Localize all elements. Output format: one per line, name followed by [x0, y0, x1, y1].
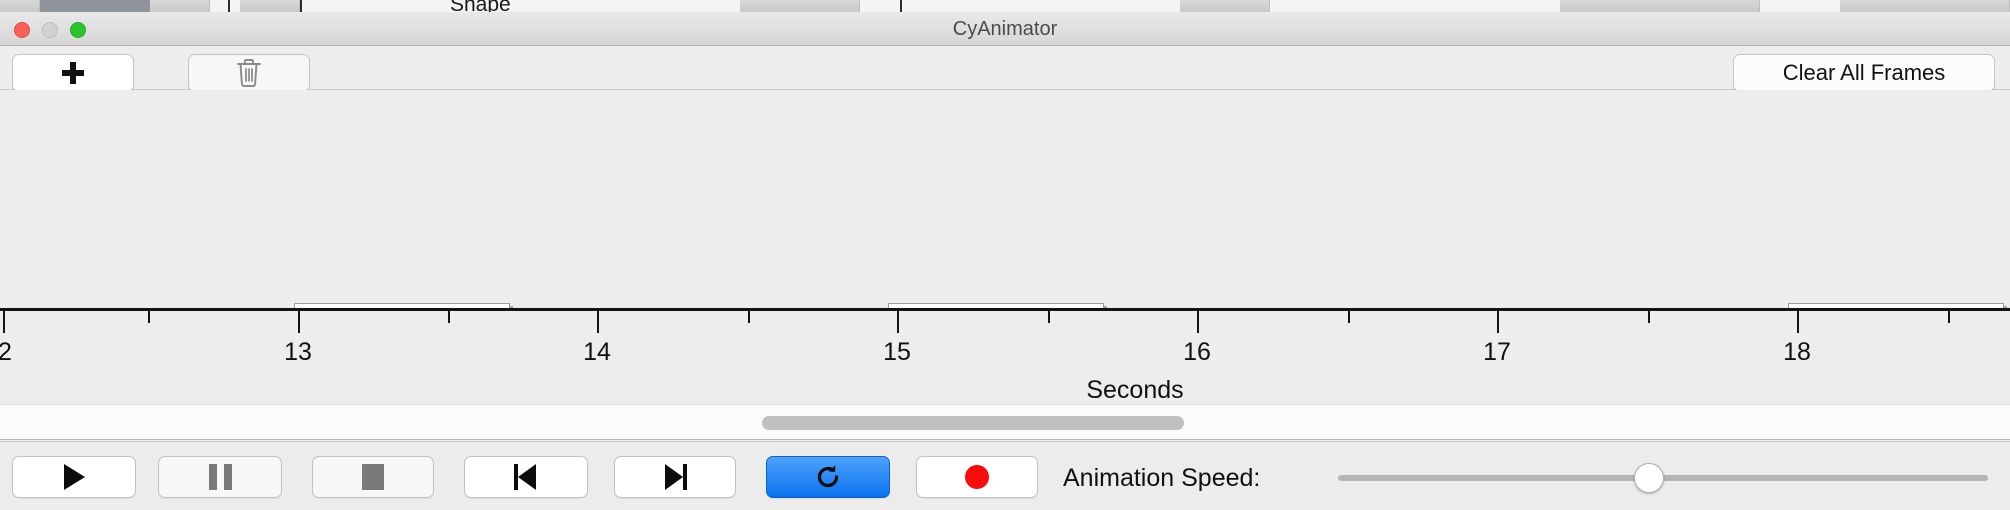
ruler-label: 17: [1483, 338, 1511, 367]
play-button[interactable]: [12, 456, 136, 498]
timeline-track-area[interactable]: MCM1: [0, 90, 2010, 308]
cyanimator-window: Shape CyAnimator Clear All Frames: [0, 0, 2010, 510]
play-icon: [64, 464, 85, 490]
skip-end-icon: [663, 464, 687, 490]
timeline-ruler[interactable]: 2 13 14 15 16 17 18 Seconds: [0, 308, 2010, 404]
stop-button[interactable]: [312, 456, 434, 498]
animation-speed-slider-thumb[interactable]: [1634, 463, 1664, 493]
skip-start-icon: [514, 464, 538, 490]
next-frame-button[interactable]: [614, 456, 736, 498]
loop-icon: [814, 463, 842, 491]
animation-speed-label: Animation Speed:: [1063, 464, 1260, 493]
background-app-strip: Shape: [0, 0, 2010, 12]
window-title: CyAnimator: [0, 12, 2010, 46]
ruler-label: 15: [883, 338, 911, 367]
pause-button[interactable]: [158, 456, 282, 498]
ruler-tick-minor: [1048, 311, 1050, 323]
ruler-tick-minor: [1948, 311, 1950, 323]
ruler-axis-title: Seconds: [0, 376, 2010, 405]
ruler-tick-minor: [448, 311, 450, 323]
clear-all-frames-label: Clear All Frames: [1783, 60, 1946, 86]
stop-icon: [362, 464, 384, 490]
ruler-label: 16: [1183, 338, 1211, 367]
ruler-tick-minor: [1648, 311, 1650, 323]
playback-controls: Animation Speed:: [0, 441, 2010, 510]
ruler-label: 13: [284, 338, 312, 367]
ruler-tick-major: [1497, 311, 1499, 333]
background-partial-label: Shape: [450, 0, 511, 12]
record-icon: [965, 465, 989, 489]
ruler-tick-major: [298, 311, 300, 333]
add-frame-button[interactable]: [12, 54, 134, 92]
window-titlebar: CyAnimator: [0, 12, 2010, 46]
clear-all-frames-button[interactable]: Clear All Frames: [1733, 54, 1995, 92]
delete-frame-button[interactable]: [188, 54, 310, 92]
frame-toolbar: Clear All Frames: [0, 46, 2010, 90]
ruler-tick-major: [1197, 311, 1199, 333]
plus-icon: [62, 62, 84, 84]
loop-button[interactable]: [766, 456, 890, 498]
timeline-scrollbar[interactable]: [0, 404, 2010, 440]
ruler-label: 2: [0, 338, 12, 367]
previous-frame-button[interactable]: [464, 456, 588, 498]
record-button[interactable]: [916, 456, 1038, 498]
ruler-tick-minor: [748, 311, 750, 323]
scrollbar-thumb[interactable]: [762, 416, 1184, 430]
pause-icon: [209, 464, 232, 490]
ruler-label: 14: [583, 338, 611, 367]
ruler-tick-major: [597, 311, 599, 333]
trash-icon: [236, 58, 262, 88]
ruler-tick-major: [897, 311, 899, 333]
ruler-tick-major: [3, 311, 5, 333]
ruler-label: 18: [1783, 338, 1811, 367]
ruler-tick-major: [1797, 311, 1799, 333]
ruler-axis-title-text: Seconds: [1086, 376, 1183, 404]
ruler-baseline: [0, 308, 2010, 311]
ruler-tick-minor: [1348, 311, 1350, 323]
ruler-tick-minor: [148, 311, 150, 323]
